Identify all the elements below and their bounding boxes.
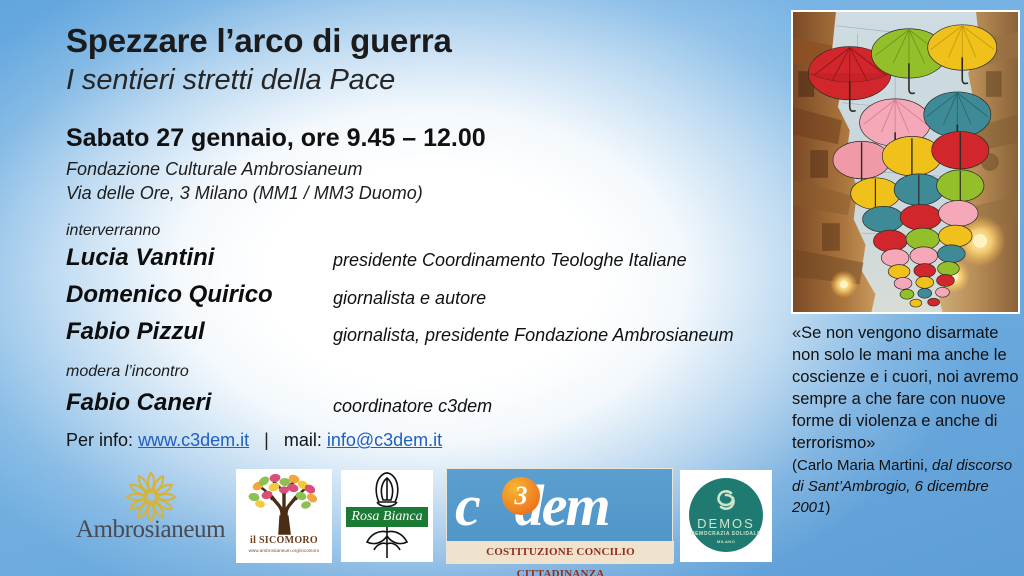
website-link[interactable]: www.c3dem.it <box>138 430 249 450</box>
logo-sicomoro-url: www.ambrosianeum.org/sicomoro <box>236 548 332 553</box>
poster-content: Spezzare l’arco di guerra I sentieri str… <box>0 0 785 576</box>
quote-block: «Se non vengono disarmate non solo le ma… <box>792 322 1020 518</box>
moderator-kicker: modera l’incontro <box>66 363 189 381</box>
speaker-name: Fabio Pizzul <box>66 318 205 346</box>
logo-rosa-bianca: Rosa Bianca <box>341 470 433 562</box>
right-column: «Se non vengono disarmate non solo le ma… <box>787 0 1024 576</box>
logo-c3dem-tagline-band: COSTITUZIONE CONCILIO CITTADINANZA <box>447 541 674 563</box>
poster-canvas: Spezzare l’arco di guerra I sentieri str… <box>0 0 1024 576</box>
event-datetime: Sabato 27 gennaio, ore 9.45 – 12.00 <box>66 124 486 153</box>
moderator-name: Fabio Caneri <box>66 389 211 417</box>
logo-demos-subtitle: DEMOCRAZIA SOLIDALE <box>689 531 763 537</box>
logo-demos-city: MILANO <box>689 539 763 544</box>
logo-sicomoro-wordmark: il SICOMORO <box>236 535 332 546</box>
demos-spiral-icon <box>713 487 739 513</box>
speaker-role: giornalista e autore <box>333 288 486 309</box>
logo-ambrosianeum-wordmark: Ambrosianeum <box>68 516 233 544</box>
venue-address: Via delle Ore, 3 Milano (MM1 / MM3 Duomo… <box>66 183 423 204</box>
logo-c3dem-wordmark-dem: dem <box>479 473 609 538</box>
logo-ambrosianeum: Ambrosianeum <box>68 470 233 566</box>
logo-c3dem-superscript-badge: 3 <box>502 477 540 515</box>
logo-rosa-bianca-wordmark: Rosa Bianca <box>346 507 428 527</box>
email-link[interactable]: info@c3dem.it <box>327 430 442 450</box>
logo-demos-wordmark: DEMOS <box>689 516 763 531</box>
logo-rosa-bianca-banner: Rosa Bianca <box>346 507 428 527</box>
contact-line: Per info: www.c3dem.it | mail: info@c3de… <box>66 430 442 451</box>
contact-mail-label: mail: <box>284 430 322 450</box>
quote-text: «Se non vengono disarmate non solo le ma… <box>792 322 1020 454</box>
umbrella-photo-artwork <box>793 12 1018 312</box>
contact-separator: | <box>254 430 279 450</box>
sponsor-logo-strip: Ambrosianeum <box>60 466 780 571</box>
contact-info-label: Per info: <box>66 430 133 450</box>
speakers-kicker: interverranno <box>66 222 160 240</box>
umbrella-street-photo <box>791 10 1020 314</box>
speaker-name: Lucia Vantini <box>66 244 214 272</box>
tree-icon <box>242 473 326 535</box>
logo-demos-circle: DEMOS DEMOCRAZIA SOLIDALE MILANO <box>689 478 763 552</box>
page-subtitle: I sentieri stretti della Pace <box>66 64 395 97</box>
logo-c3dem-mark: cdem 3 <box>447 469 674 541</box>
speaker-name: Domenico Quirico <box>66 281 273 309</box>
logo-c3dem-wordmark-c: c <box>455 473 479 538</box>
speaker-role: presidente Coordinamento Teologhe Italia… <box>333 250 687 271</box>
page-title: Spezzare l’arco di guerra <box>66 22 452 60</box>
quote-attribution-prefix: (Carlo Maria Martini, <box>792 457 932 474</box>
quote-attribution: (Carlo Maria Martini, dal discorso di Sa… <box>792 455 1020 518</box>
moderator-role: coordinatore c3dem <box>333 396 492 417</box>
venue-name: Fondazione Culturale Ambrosianeum <box>66 159 363 180</box>
logo-c3dem: cdem 3 COSTITUZIONE CONCILIO CITTADINANZ… <box>446 468 673 564</box>
logo-sicomoro: il SICOMORO www.ambrosianeum.org/sicomor… <box>236 469 332 563</box>
logo-demos: DEMOS DEMOCRAZIA SOLIDALE MILANO <box>680 470 772 562</box>
logo-c3dem-tagline: COSTITUZIONE CONCILIO CITTADINANZA <box>447 541 674 576</box>
logo-c3dem-superscript: 3 <box>502 477 540 515</box>
quote-attribution-suffix: ) <box>825 499 830 516</box>
speaker-role: giornalista, presidente Fondazione Ambro… <box>333 325 734 346</box>
